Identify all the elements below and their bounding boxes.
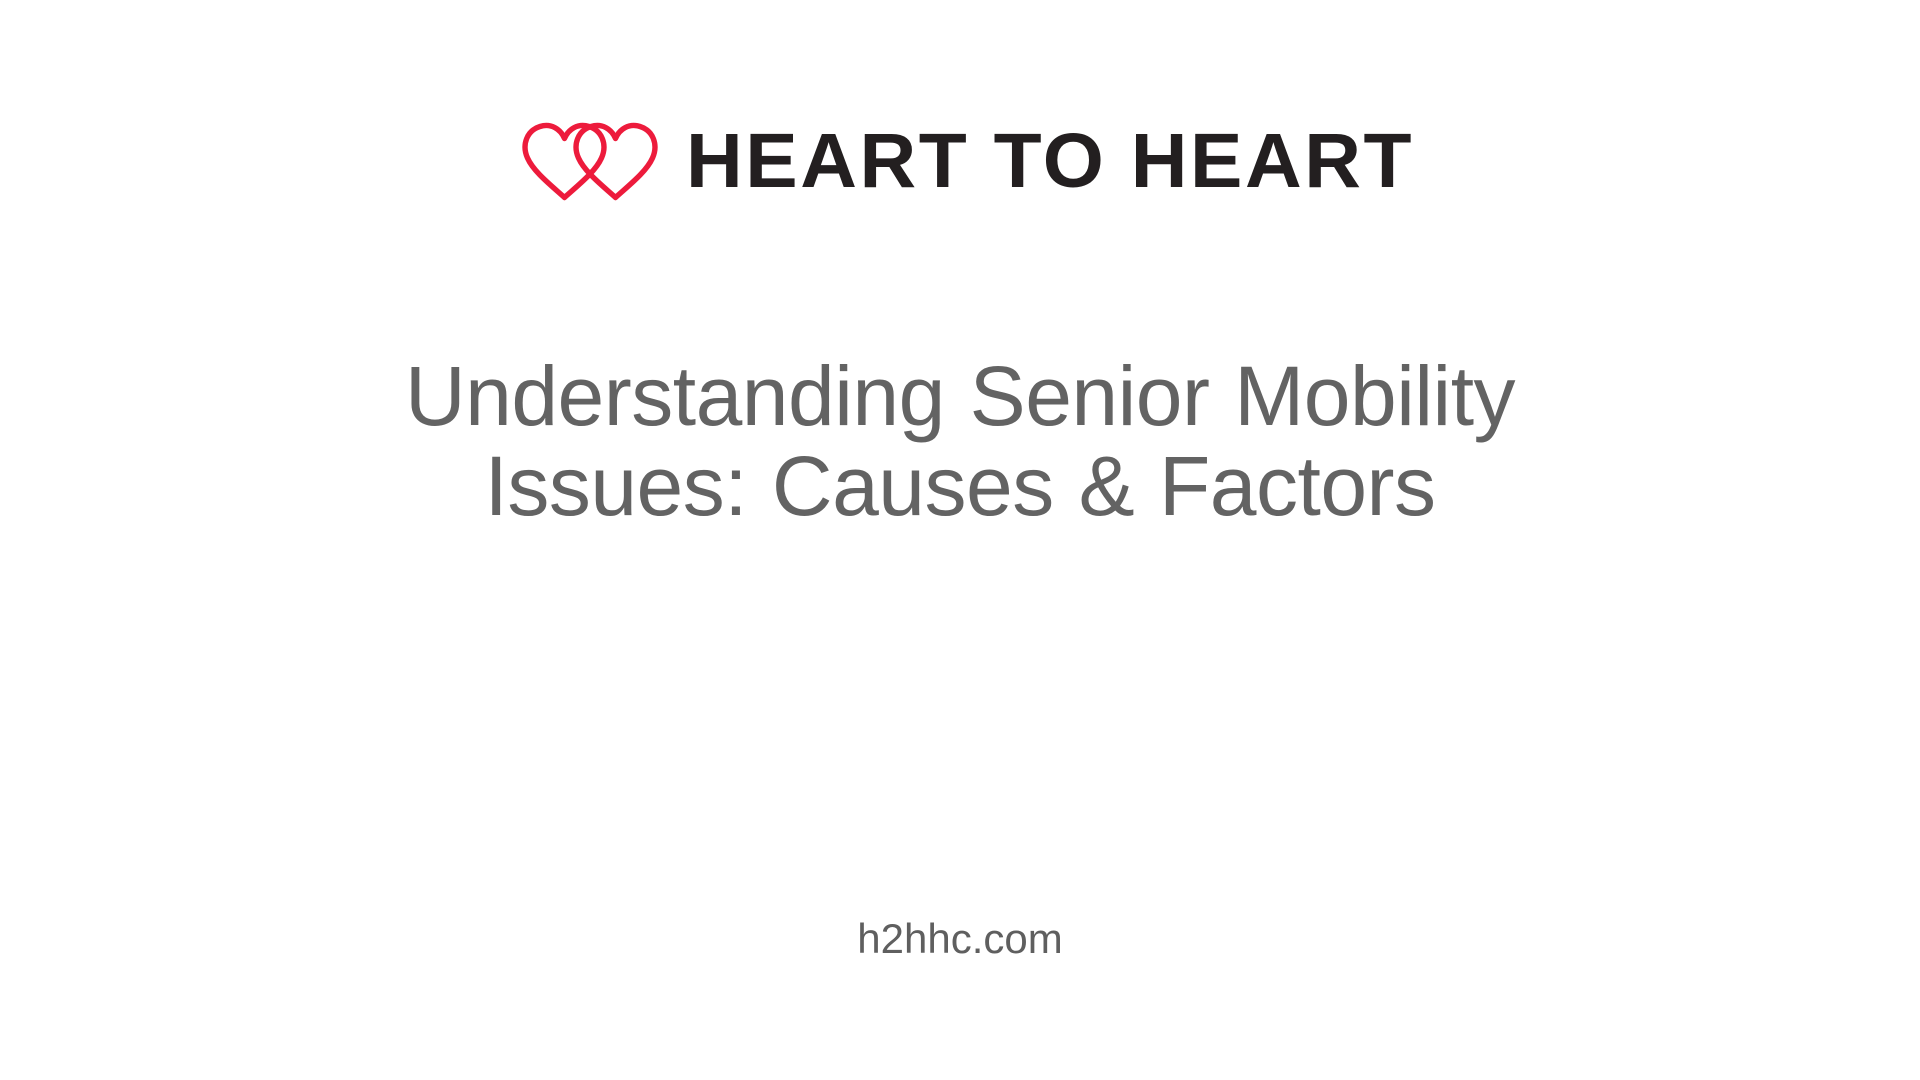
title-block: Understanding Senior Mobility Issues: Ca… [370, 352, 1550, 532]
brand-wordmark: HEART TO HEART [686, 128, 1414, 194]
title-slide: HEART TO HEART Understanding Senior Mobi… [0, 0, 1920, 1080]
brand-header: HEART TO HEART [520, 118, 1400, 204]
interlocking-hearts-icon [520, 118, 660, 204]
footer-block: h2hhc.com [0, 915, 1920, 963]
site-url: h2hhc.com [857, 915, 1062, 962]
page-title: Understanding Senior Mobility Issues: Ca… [370, 352, 1550, 532]
